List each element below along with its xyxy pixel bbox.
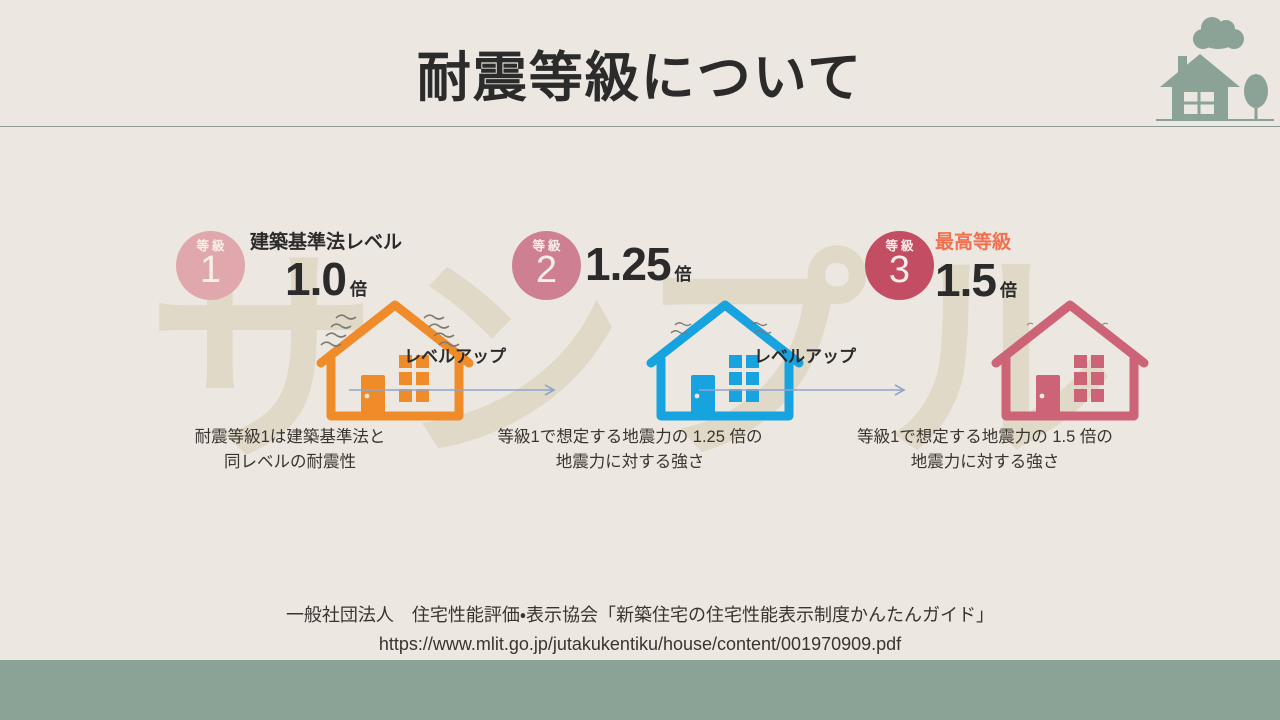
levelup-label-1: レベルアップ — [345, 342, 565, 367]
grade-badge-number: 2 — [512, 250, 581, 290]
grade-badge-3: 等級 3 — [865, 231, 934, 300]
earthquake-grade-diagram: 等級 1 建築基準法レベル 1.0 倍 — [0, 127, 1280, 587]
levelup-label-2: レベルアップ — [695, 342, 915, 367]
house-illustration-3 — [990, 297, 1150, 422]
caption-line: 耐震等級1は建築基準法と — [110, 425, 470, 450]
grade-column-1: 等級 1 建築基準法レベル 1.0 倍 — [110, 127, 470, 487]
caption-line: 等級1で想定する地震力の 1.25 倍の — [450, 425, 810, 450]
page-title: 耐震等級について — [0, 33, 1280, 112]
grade-unit-2: 倍 — [675, 266, 692, 283]
grade-badge-number: 1 — [176, 250, 245, 290]
arrow-right-icon — [345, 383, 565, 397]
grade-badge-number: 3 — [865, 250, 934, 290]
caption-line: 地震力に対する強さ — [805, 450, 1165, 475]
grade-caption-1: 耐震等級1は建築基準法と 同レベルの耐震性 — [110, 425, 470, 475]
caption-line: 等級1で想定する地震力の 1.5 倍の — [805, 425, 1165, 450]
grade-multiplier-row-1: 1.0 倍 — [250, 256, 402, 302]
grade-headline-3: 最高等級 1.5 倍 — [935, 231, 1017, 303]
grade-multiplier-row-2: 1.25 倍 — [585, 241, 692, 287]
caption-line: 地震力に対する強さ — [450, 450, 810, 475]
grade-caption-3: 等級1で想定する地震力の 1.5 倍の 地震力に対する強さ — [805, 425, 1165, 475]
grade-headline-2: 1.25 倍 — [585, 239, 692, 287]
grade-multiplier-3: 1.5 — [935, 257, 996, 303]
grade-badge-2: 等級 2 — [512, 231, 581, 300]
grade-unit-1: 倍 — [350, 281, 367, 298]
slide-header: 耐震等級について — [0, 0, 1280, 127]
grade-caption-2: 等級1で想定する地震力の 1.25 倍の 地震力に対する強さ — [450, 425, 810, 475]
grade-badge-1: 等級 1 — [176, 231, 245, 300]
grade-label-3: 最高等級 — [935, 231, 1017, 255]
house-cloud-tree-icon — [1156, 8, 1274, 124]
grade-multiplier-2: 1.25 — [585, 241, 671, 287]
caption-line: 同レベルの耐震性 — [110, 450, 470, 475]
grade-column-2: 等級 2 1.25 倍 — [450, 127, 810, 487]
grade-multiplier-1: 1.0 — [285, 256, 346, 302]
source-line-organization: 一般社団法人 住宅性能評価・表示協会「新築住宅の住宅性能表示制度かんたんガイド」 — [0, 601, 1280, 630]
levelup-transition-1: レベルアップ — [345, 342, 565, 412]
source-attribution: 一般社団法人 住宅性能評価・表示協会「新築住宅の住宅性能表示制度かんたんガイド」… — [0, 601, 1280, 659]
source-line-url: https://www.mlit.go.jp/jutakukentiku/hou… — [0, 630, 1280, 659]
grade-column-3: 等級 3 最高等級 1.5 倍 — [805, 127, 1165, 487]
arrow-right-icon — [695, 383, 915, 397]
levelup-transition-2: レベルアップ — [695, 342, 915, 412]
grade-label-1: 建築基準法レベル — [250, 231, 402, 255]
grade-headline-1: 建築基準法レベル 1.0 倍 — [250, 231, 402, 302]
bottom-accent-bar — [0, 660, 1280, 720]
